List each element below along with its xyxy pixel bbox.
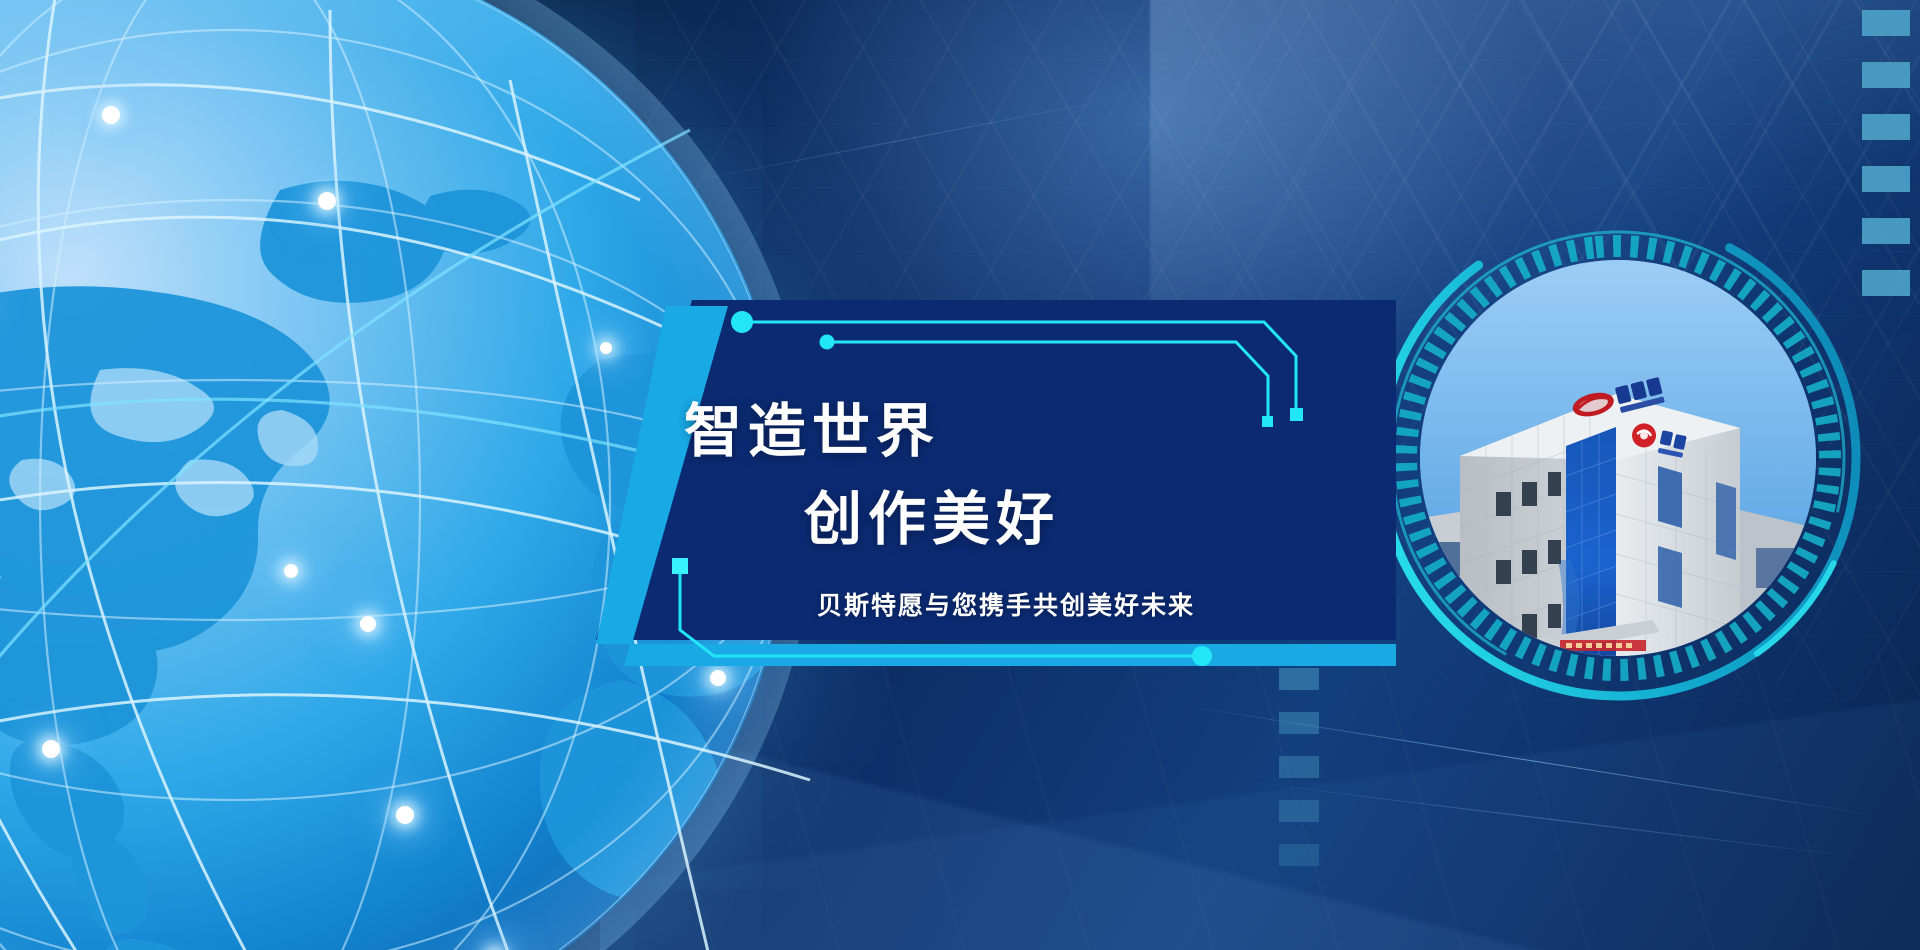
banner-stage: 智造世界 创作美好 贝斯特愿与您携手共创美好未来 (0, 0, 1920, 950)
decor-block (1279, 844, 1319, 866)
headline-line-2: 创作美好 (804, 472, 1060, 556)
bottom-block-stack (1279, 668, 1319, 866)
decor-block (1862, 218, 1910, 244)
building-photograph (1420, 260, 1816, 656)
network-node (360, 616, 376, 632)
headquarters-photo-badge (1368, 208, 1868, 708)
network-node (318, 192, 336, 210)
decor-block (1279, 756, 1319, 778)
decor-block (1279, 800, 1319, 822)
headline-line-1: 智造世界 (684, 384, 940, 468)
decor-block (1862, 10, 1910, 36)
decor-block (1862, 114, 1910, 140)
subheadline: 贝斯特愿与您携手共创美好未来 (686, 586, 1326, 622)
decor-block (1862, 62, 1910, 88)
decor-block (1279, 712, 1319, 734)
network-node (284, 564, 298, 578)
decor-block (1862, 270, 1910, 296)
decor-block (1862, 166, 1910, 192)
network-node (396, 806, 414, 824)
network-node (102, 106, 120, 124)
network-node (42, 740, 60, 758)
hero-text-panel: 智造世界 创作美好 贝斯特愿与您携手共创美好未来 (596, 300, 1396, 700)
decor-block (1279, 668, 1319, 690)
right-edge-block-stack (1862, 10, 1910, 296)
